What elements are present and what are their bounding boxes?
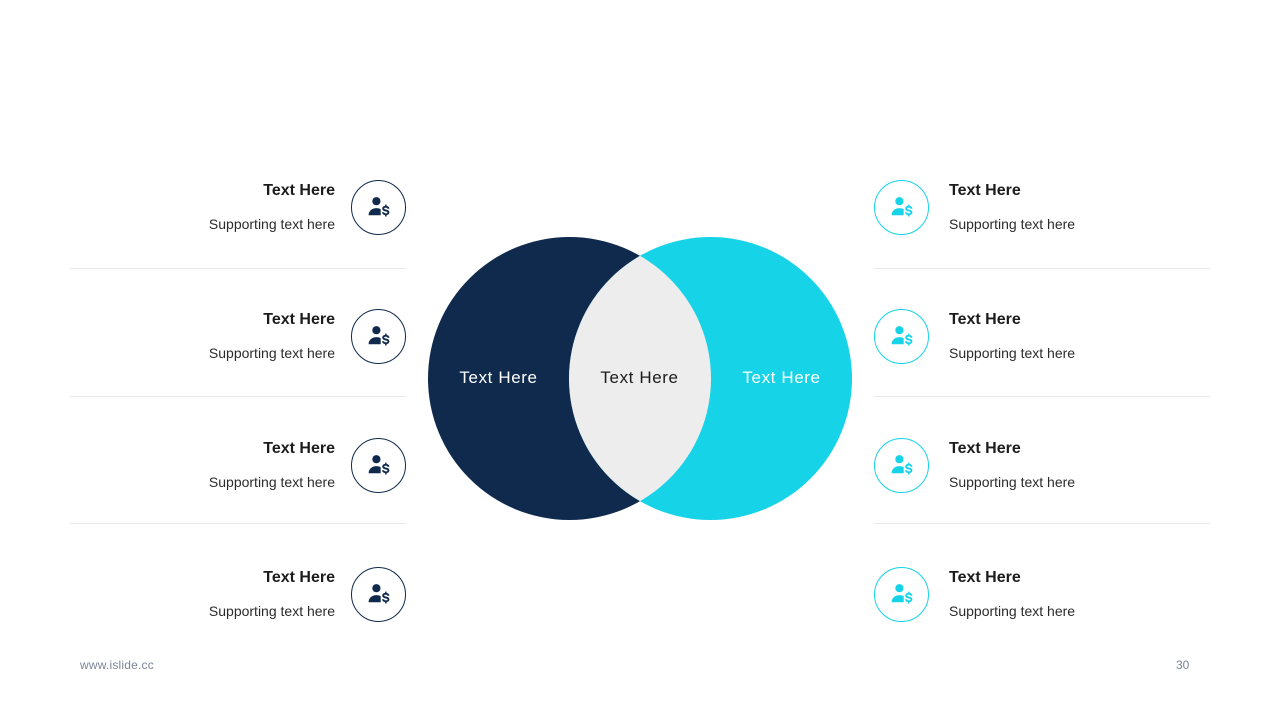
slide-canvas: Text Here Text Here Text Here Text Here … — [0, 0, 1280, 720]
divider — [70, 268, 406, 269]
list-item[interactable]: Text Here Supporting text here — [70, 291, 406, 381]
venn-diagram: Text Here Text Here Text Here — [428, 237, 852, 520]
list-item-subtitle: Supporting text here — [949, 346, 1075, 361]
list-item-title: Text Here — [263, 311, 335, 329]
divider — [874, 396, 1210, 397]
list-item-title: Text Here — [949, 440, 1021, 458]
list-item-subtitle: Supporting text here — [209, 475, 335, 490]
person-dollar-icon[interactable] — [874, 438, 929, 493]
list-item-text: Text Here Supporting text here — [209, 311, 335, 362]
list-item-title: Text Here — [263, 569, 335, 587]
list-item-subtitle: Supporting text here — [949, 604, 1075, 619]
list-item-text: Text Here Supporting text here — [209, 440, 335, 491]
list-item[interactable]: Text Here Supporting text here — [874, 420, 1210, 510]
list-item-text: Text Here Supporting text here — [209, 569, 335, 620]
list-item-text: Text Here Supporting text here — [949, 311, 1075, 362]
list-item[interactable]: Text Here Supporting text here — [874, 291, 1210, 381]
list-item-text: Text Here Supporting text here — [949, 440, 1075, 491]
list-item[interactable]: Text Here Supporting text here — [874, 162, 1210, 252]
divider — [874, 268, 1210, 269]
list-item-title: Text Here — [949, 182, 1021, 200]
person-dollar-icon[interactable] — [874, 180, 929, 235]
person-dollar-icon[interactable] — [874, 309, 929, 364]
list-item-subtitle: Supporting text here — [949, 475, 1075, 490]
venn-label-right: Text Here — [711, 369, 852, 386]
divider — [874, 523, 1210, 524]
list-item-title: Text Here — [263, 440, 335, 458]
divider — [70, 523, 406, 524]
list-item-text: Text Here Supporting text here — [209, 182, 335, 233]
list-item[interactable]: Text Here Supporting text here — [70, 549, 406, 639]
person-dollar-icon[interactable] — [351, 309, 406, 364]
person-dollar-icon[interactable] — [351, 180, 406, 235]
list-item-title: Text Here — [263, 182, 335, 200]
list-item-subtitle: Supporting text here — [209, 604, 335, 619]
list-item-text: Text Here Supporting text here — [949, 569, 1075, 620]
list-item[interactable]: Text Here Supporting text here — [70, 420, 406, 510]
person-dollar-icon[interactable] — [351, 567, 406, 622]
right-column: Text Here Supporting text here Text Here… — [874, 150, 1210, 665]
list-item-title: Text Here — [949, 311, 1021, 329]
list-item-subtitle: Supporting text here — [209, 346, 335, 361]
venn-label-left: Text Here — [428, 369, 569, 386]
page-number: 30 — [1176, 658, 1216, 672]
person-dollar-icon[interactable] — [874, 567, 929, 622]
list-item[interactable]: Text Here Supporting text here — [70, 162, 406, 252]
venn-label-center: Text Here — [569, 369, 710, 386]
list-item[interactable]: Text Here Supporting text here — [874, 549, 1210, 639]
list-item-subtitle: Supporting text here — [209, 217, 335, 232]
list-item-subtitle: Supporting text here — [949, 217, 1075, 232]
footer-url[interactable]: www.islide.cc — [80, 658, 154, 672]
divider — [70, 396, 406, 397]
list-item-text: Text Here Supporting text here — [949, 182, 1075, 233]
left-column: Text Here Supporting text here Text Here… — [70, 150, 406, 665]
list-item-title: Text Here — [949, 569, 1021, 587]
person-dollar-icon[interactable] — [351, 438, 406, 493]
